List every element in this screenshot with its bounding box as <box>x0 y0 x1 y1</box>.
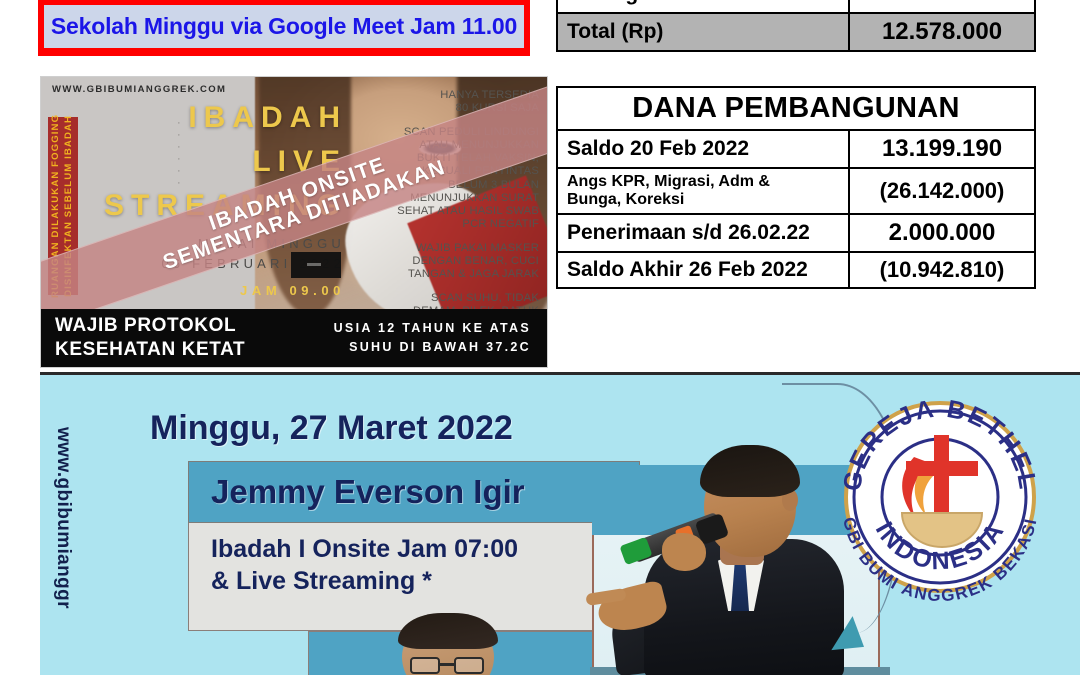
speaker-hand-holding-mic <box>662 533 706 571</box>
dana-row-value-saldo-akhir: (10.942.810) <box>849 252 1035 288</box>
poster-decorative-dots: ······ <box>177 117 181 189</box>
dana-angsuran-line1: Angs KPR, Migrasi, Adm & <box>567 173 770 190</box>
poster-watermark-badge <box>291 252 341 278</box>
live-streaming-poster: WWW.GBIBUMIANGGREK.COM RUANGAN DILAKUKAN… <box>40 76 548 368</box>
poster-website-url: WWW.GBIBUMIANGGREK.COM <box>52 84 226 95</box>
glasses-bridge <box>440 663 454 666</box>
page-root: Sekolah Minggu via Google Meet Jam 11.00… <box>0 0 1080 675</box>
announcement-banner-inner: Sekolah Minggu via Google Meet Jam 11.00 <box>44 5 524 48</box>
gbi-logo-svg: GEREJA BETHEL INDONESIA GBI BUMI ANGGREK… <box>830 385 1050 605</box>
table-row: Saldo 20 Feb 2022 13.199.190 <box>557 130 1035 168</box>
rule-mask-handwash: WAJIB PAKAI MASKERDENGAN BENAR, CUCITANG… <box>387 242 539 281</box>
service-streaming-line: & Live Streaming * <box>211 565 639 597</box>
service-schedule-banner: www.gbibumianggr Minggu, 27 Maret 2022 J… <box>40 372 1080 675</box>
secondary-speaker-photo <box>370 613 540 675</box>
poster-title-line-1: IBADAH <box>188 101 347 135</box>
poster-start-time: JAM 09.00 <box>240 283 345 298</box>
offering-total-label: Total (Rp) <box>557 13 849 51</box>
secondary-speaker-hair <box>398 613 498 649</box>
dana-row-label-penerimaan: Penerimaan s/d 26.02.22 <box>557 214 849 252</box>
glasses-left-lens <box>410 657 440 674</box>
speaker-name: Jemmy Everson Igir <box>211 473 525 511</box>
offering-row-value: - <box>849 0 1035 13</box>
table-header-row: DANA PEMBANGUNAN <box>557 87 1035 130</box>
dana-row-label-angsuran: Angs KPR, Migrasi, Adm & Bunga, Koreksi <box>557 168 849 214</box>
dana-row-label-saldo-awal: Saldo 20 Feb 2022 <box>557 130 849 168</box>
dana-angsuran-line2: Bunga, Koreksi <box>567 191 684 208</box>
dana-row-value-saldo-awal: 13.199.190 <box>849 130 1035 168</box>
temp-line: SUHU DI BAWAH 37.2C <box>349 340 531 354</box>
offering-total-value: 12.578.000 <box>849 13 1035 51</box>
table-row: Saldo Akhir 26 Feb 2022 (10.942.810) <box>557 252 1035 288</box>
speaker-name-bar: Jemmy Everson Igir <box>188 461 640 523</box>
protocol-line2: KESEHATAN KETAT <box>55 339 245 360</box>
protocol-line1: WAJIB PROTOKOL <box>55 315 236 336</box>
glasses-right-lens <box>454 657 484 674</box>
poster-age-temp-text: USIA 12 TAHUN KE ATAS SUHU DI BAWAH 37.2… <box>334 319 531 357</box>
service-date: Minggu, 27 Maret 2022 <box>150 409 513 448</box>
table-row: Sulung - <box>557 0 1035 13</box>
announcement-banner-text: Sekolah Minggu via Google Meet Jam 11.00 <box>51 13 517 40</box>
poster-footer-bar: WAJIB PROTOKOL KESEHATAN KETAT USIA 12 T… <box>41 309 547 367</box>
poster-protocol-text: WAJIB PROTOKOL KESEHATAN KETAT <box>55 314 245 362</box>
dana-table-header: DANA PEMBANGUNAN <box>557 87 1035 130</box>
announcement-banner: Sekolah Minggu via Google Meet Jam 11.00 <box>38 0 530 56</box>
age-line: USIA 12 TAHUN KE ATAS <box>334 321 531 335</box>
dana-row-value-angsuran: (26.142.000) <box>849 168 1035 214</box>
offering-table: Sulung - Total (Rp) 12.578.000 <box>556 0 1036 52</box>
dana-row-label-saldo-akhir: Saldo Akhir 26 Feb 2022 <box>557 252 849 288</box>
dana-row-value-penerimaan: 2.000.000 <box>849 214 1035 252</box>
banner-website-url: www.gbibumianggr <box>52 427 74 675</box>
gbi-logo: GEREJA BETHEL INDONESIA GBI BUMI ANGGREK… <box>830 385 1050 605</box>
table-row: Penerimaan s/d 26.02.22 2.000.000 <box>557 214 1035 252</box>
table-row: Angs KPR, Migrasi, Adm & Bunga, Koreksi … <box>557 168 1035 214</box>
service-time-line: Ibadah I Onsite Jam 07:00 <box>211 533 639 565</box>
dana-pembangunan-table: DANA PEMBANGUNAN Saldo 20 Feb 2022 13.19… <box>556 86 1036 289</box>
offering-row-label: Sulung <box>557 0 849 13</box>
table-row-total: Total (Rp) 12.578.000 <box>557 13 1035 51</box>
